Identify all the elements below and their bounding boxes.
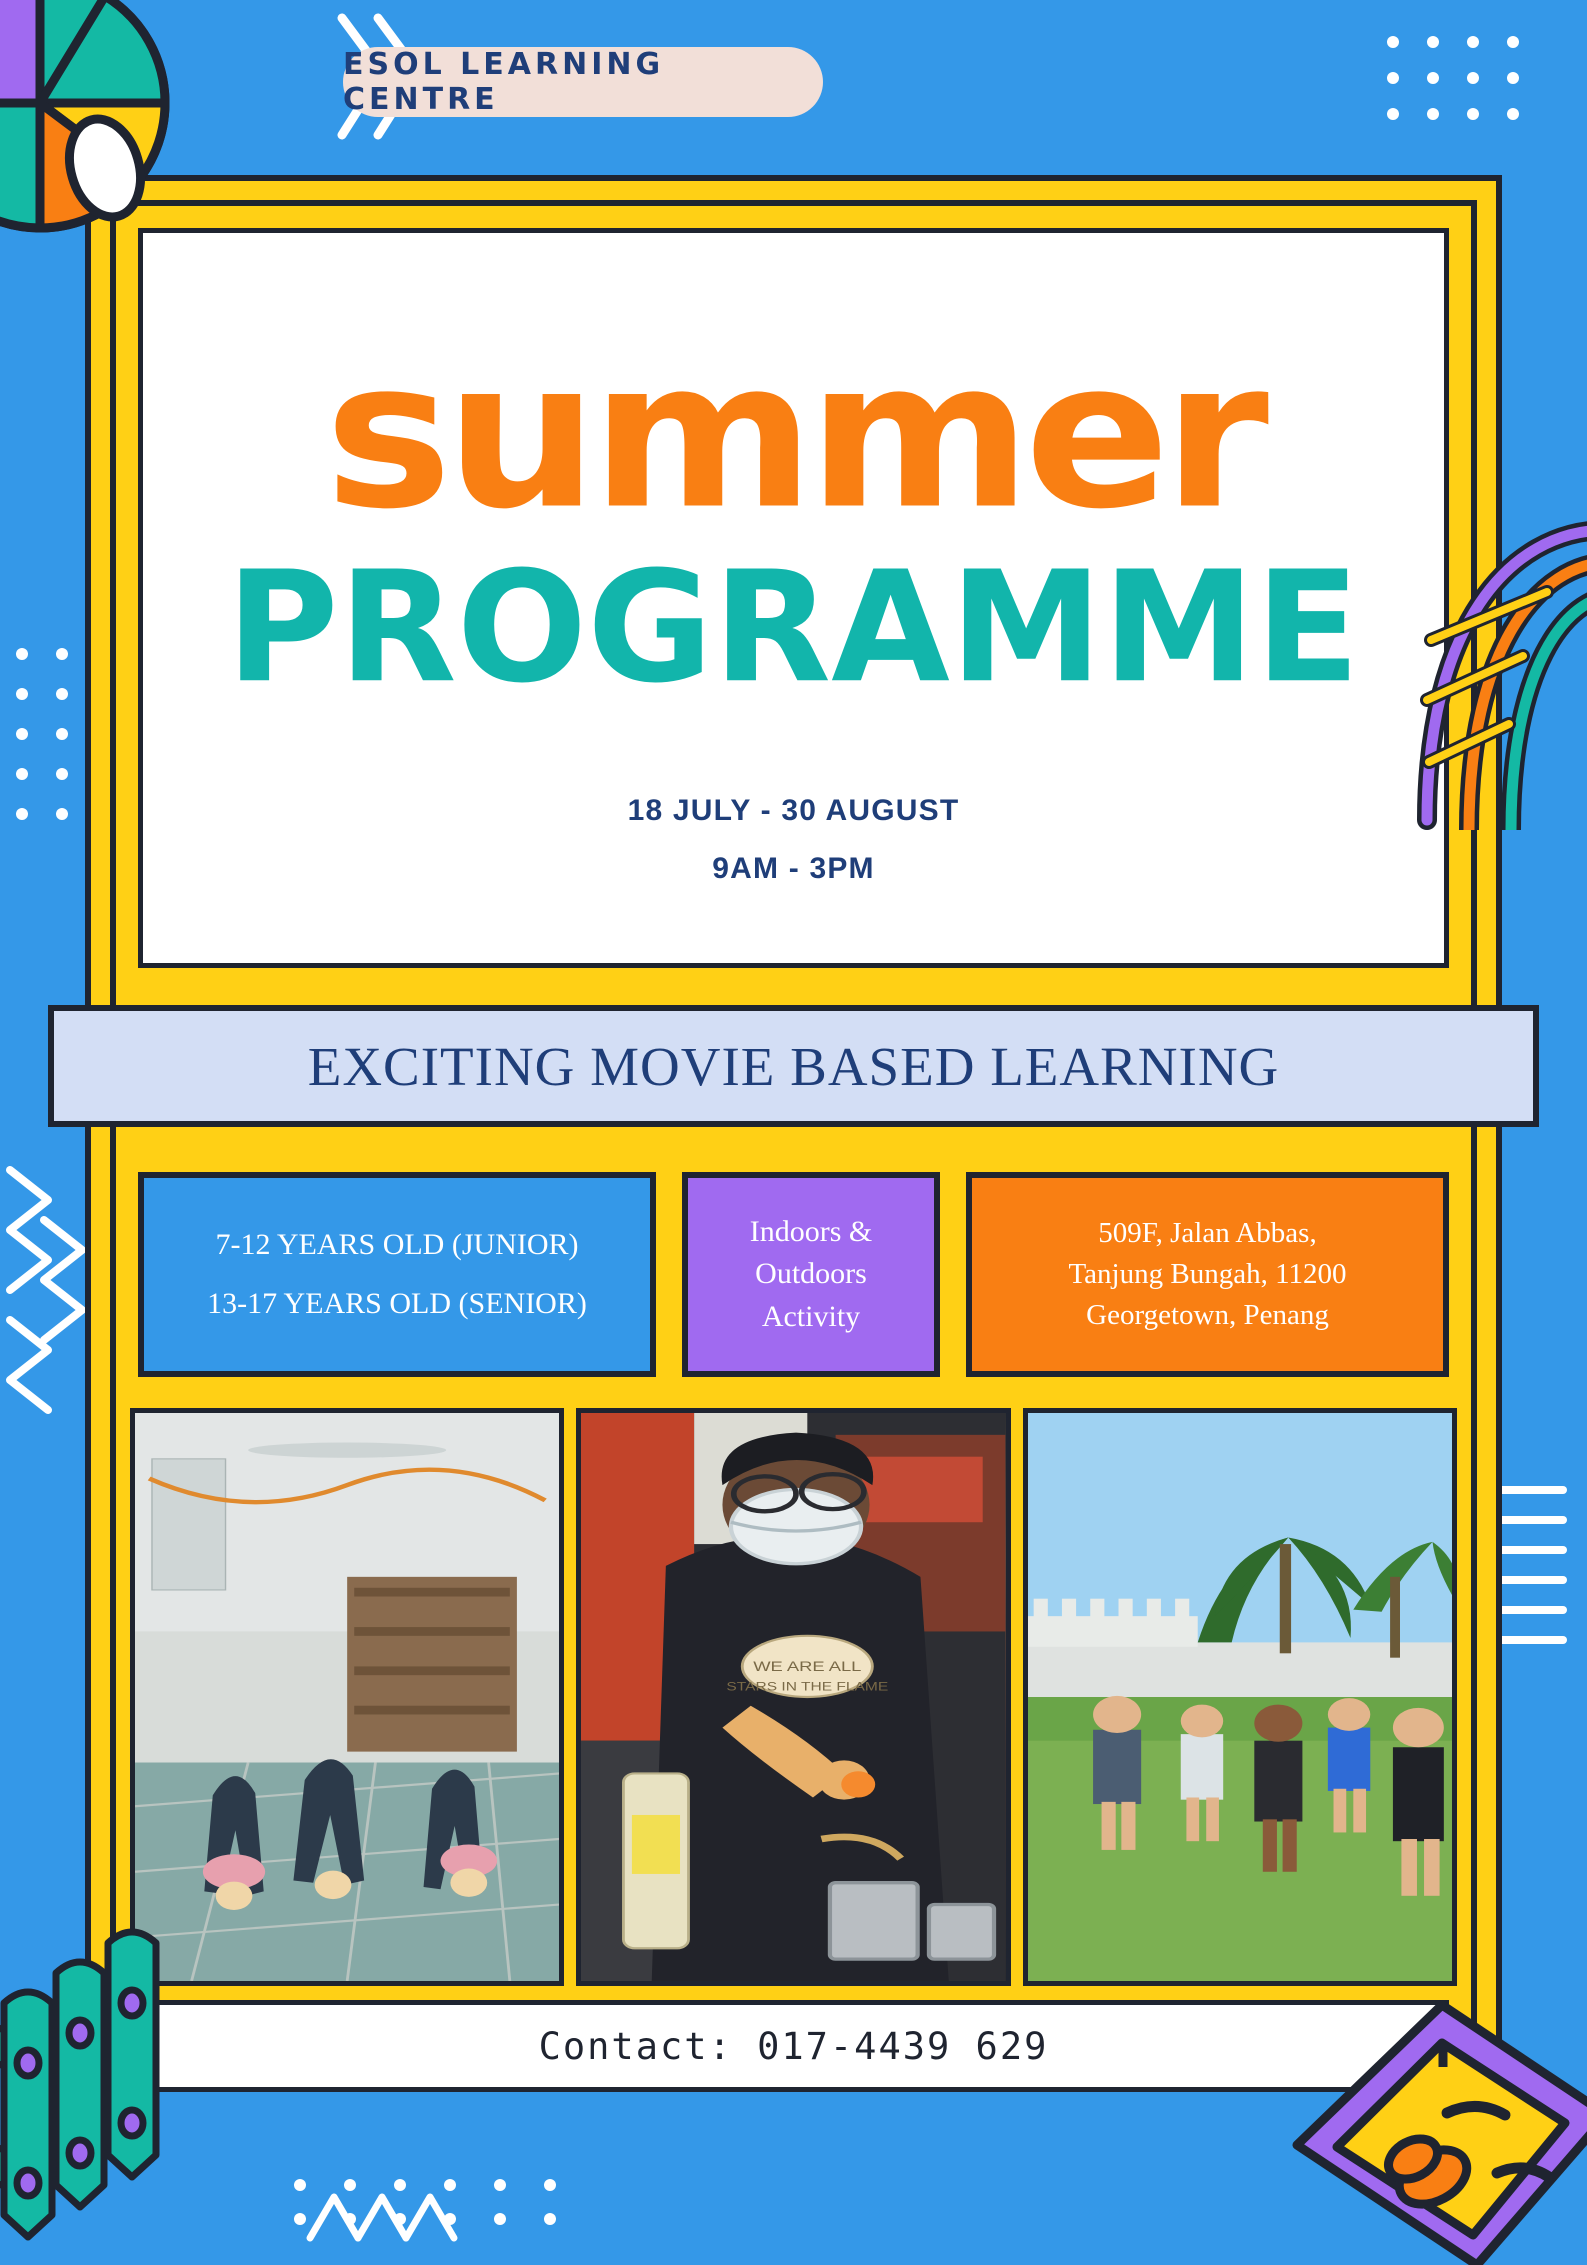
address-box: 509F, Jalan Abbas, Tanjung Bungah, 11200… [966, 1172, 1449, 1377]
info-boxes-row: 7-12 YEARS OLD (JUNIOR) 13-17 YEARS OLD … [138, 1172, 1449, 1377]
photo-student-cooking: WE ARE ALL STARS IN THE FLAME [576, 1408, 1010, 1986]
contact-number-text: Contact: 017-4439 629 [539, 2025, 1049, 2068]
address-line-2: Tanjung Bungah, 11200 [1068, 1254, 1346, 1295]
photo-outdoor-play [1023, 1408, 1457, 1986]
title-programme: PROGRAMME [227, 551, 1361, 704]
address-line-1: 509F, Jalan Abbas, [1098, 1213, 1316, 1254]
activity-line-2: Outdoors [755, 1253, 867, 1296]
title-summer: summer [325, 352, 1262, 519]
program-dates: 18 JULY - 30 AUGUST [628, 794, 960, 828]
age-junior-text: 7-12 YEARS OLD (JUNIOR) [215, 1216, 578, 1275]
age-senior-text: 13-17 YEARS OLD (SENIOR) [207, 1275, 587, 1334]
centre-name-badge: ESOL LEARNING CENTRE [343, 47, 823, 117]
zigzag-mid-left [4, 1160, 94, 1420]
address-line-3: Georgetown, Penang [1086, 1295, 1329, 1336]
activity-line-1: Indoors & [750, 1211, 873, 1254]
svg-text:STARS IN THE FLAME: STARS IN THE FLAME [727, 1679, 889, 1693]
dot-grid-bottom [280, 2167, 580, 2237]
photo-classroom-stretching [130, 1408, 564, 1986]
hero-panel: summer PROGRAMME 18 JULY - 30 AUGUST 9AM… [138, 228, 1449, 968]
program-time: 9AM - 3PM [712, 852, 875, 886]
contact-footer: Contact: 017-4439 629 [138, 2000, 1449, 2092]
activity-line-3: Activity [762, 1296, 860, 1339]
highlight-banner: EXCITING MOVIE BASED LEARNING [48, 1005, 1539, 1127]
centre-name-text: ESOL LEARNING CENTRE [343, 47, 823, 117]
dot-grid-top-right [1379, 30, 1559, 150]
age-group-box: 7-12 YEARS OLD (JUNIOR) 13-17 YEARS OLD … [138, 1172, 656, 1377]
highlight-banner-text: EXCITING MOVIE BASED LEARNING [308, 1035, 1280, 1098]
activity-type-box: Indoors & Outdoors Activity [682, 1172, 940, 1377]
zigzag-bottom-left [300, 2183, 480, 2243]
photo-strip: WE ARE ALL STARS IN THE FLAME [130, 1408, 1457, 1986]
svg-text:WE ARE ALL: WE ARE ALL [754, 1659, 862, 1675]
